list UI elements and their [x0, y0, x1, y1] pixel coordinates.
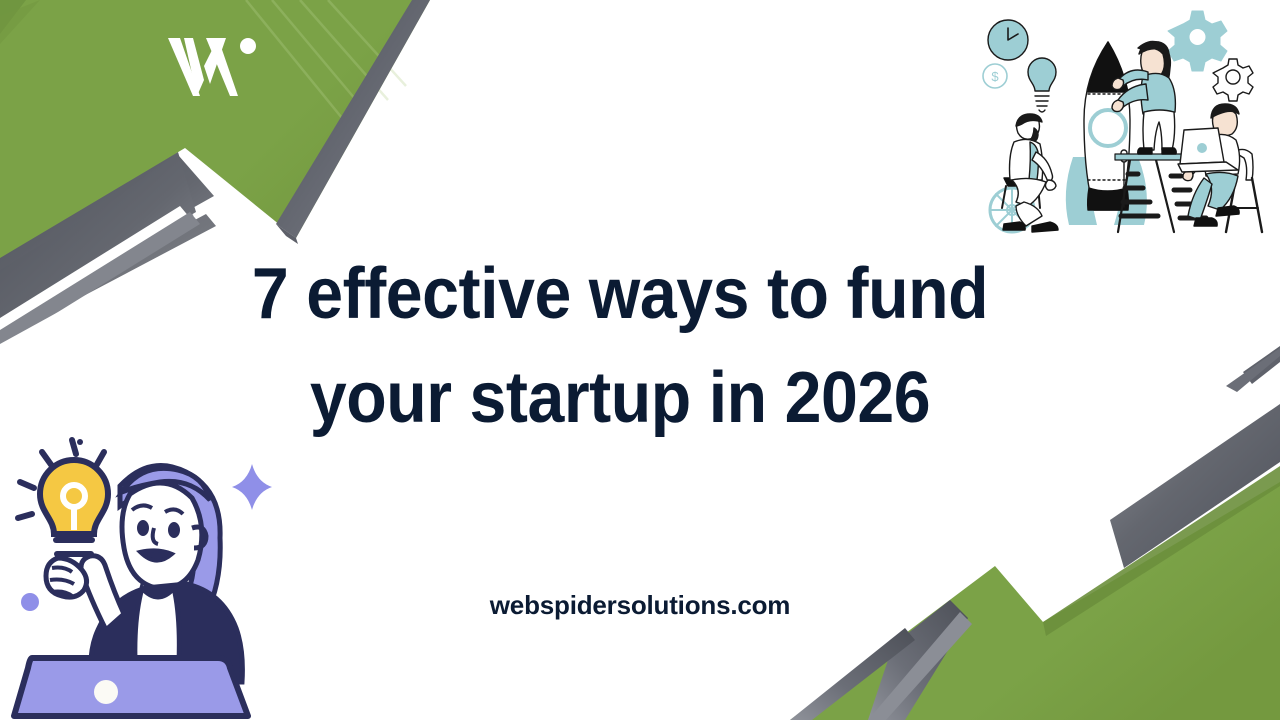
svg-text:$: $ [991, 69, 999, 84]
social-card-canvas: $ [0, 0, 1280, 720]
webspider-w-logo-icon [160, 28, 270, 108]
man-in-wheelchair [990, 114, 1058, 232]
gear-small-icon [1213, 59, 1253, 101]
man-with-laptop-on-stool [1178, 104, 1262, 232]
gear-large-icon [1168, 11, 1227, 71]
gray-shadow-band-left [0, 152, 200, 358]
dollar-coin-icon: $ [983, 64, 1007, 88]
laptop-icon [14, 658, 248, 716]
website-url: webspidersolutions.com [0, 590, 1280, 621]
page-title: 7 effective ways to fund your startup in… [178, 243, 1061, 450]
lightbulb-idea-icon [18, 440, 108, 571]
rocket-icon [1084, 42, 1130, 210]
clock-icon [988, 20, 1028, 60]
brand-logo[interactable] [160, 28, 270, 108]
sparkle-icon [232, 464, 272, 510]
lightbulb-icon [1028, 58, 1056, 112]
team-building-rocket-illustration: $ [978, 2, 1278, 242]
woman-with-idea-lightbulb-illustration [2, 430, 292, 720]
